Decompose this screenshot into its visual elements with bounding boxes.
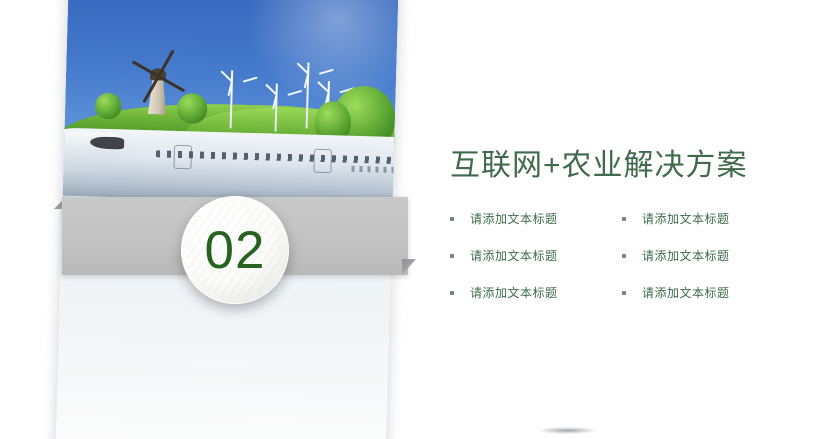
list-item-label: 请添加文本标题 [470,284,558,301]
list-item[interactable]: 请添加文本标题 [450,247,600,264]
list-item-label: 请添加文本标题 [642,284,730,301]
airplane-door [313,149,332,173]
content-panel: 互联网+农业解决方案 请添加文本标题 请添加文本标题 请添加文本标题 请添加文本… [450,140,820,301]
page-title: 互联网+农业解决方案 [450,140,820,184]
tree [177,93,208,124]
list-item-label: 请添加文本标题 [470,247,558,264]
section-number-label: 02 [205,220,266,281]
bullet-dot-icon [450,291,454,295]
bullet-dot-icon [622,291,626,295]
bottom-object-shadow [538,427,596,434]
list-item[interactable]: 请添加文本标题 [622,247,772,264]
eco-flight-photo [63,0,399,205]
bullet-dot-icon [450,217,454,221]
list-item[interactable]: 请添加文本标题 [622,210,772,227]
bullet-dot-icon [622,254,626,258]
slide-canvas: ECO flying 02 互联网+农业解决方案 请添加文本标题 请添加文本标题 [0,0,838,439]
bullet-dot-icon [450,254,454,258]
bullet-list: 请添加文本标题 请添加文本标题 请添加文本标题 请添加文本标题 请添加文本标题 … [450,210,820,301]
list-item[interactable]: 请添加文本标题 [450,210,600,227]
bullet-dot-icon [622,217,626,221]
tree [95,93,122,120]
list-item-label: 请添加文本标题 [642,247,730,264]
section-number-badge[interactable]: 02 [181,196,289,304]
list-item[interactable]: 请添加文本标题 [622,284,772,301]
list-item-label: 请添加文本标题 [642,210,730,227]
list-item-label: 请添加文本标题 [470,210,558,227]
windmill-body [148,76,167,114]
windmill-icon [137,62,178,115]
airplane-door [173,145,192,169]
list-item[interactable]: 请添加文本标题 [450,284,600,301]
